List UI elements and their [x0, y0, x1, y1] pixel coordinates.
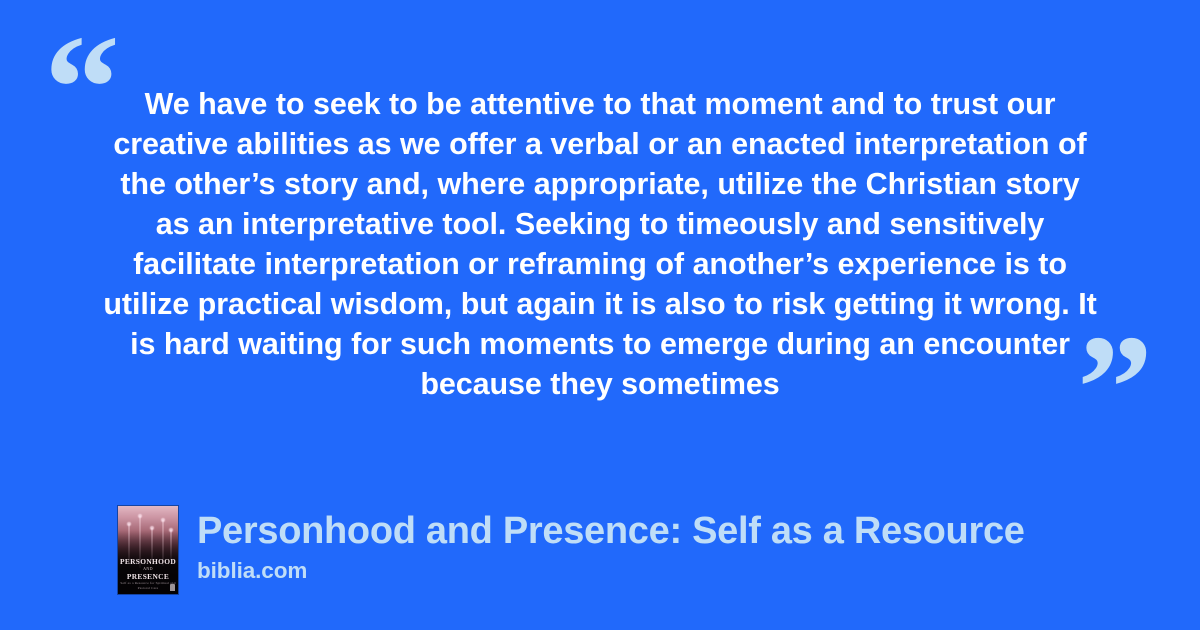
cover-title-line-2: PRESENCE [118, 572, 178, 581]
cover-highlight [161, 518, 165, 522]
book-cover-thumbnail[interactable]: PERSONHOOD AND PRESENCE Self as a Resour… [118, 506, 178, 594]
footer-text: Personhood and Presence: Self as a Resou… [197, 506, 1025, 585]
cover-highlight [138, 514, 142, 518]
footer: PERSONHOOD AND PRESENCE Self as a Resour… [118, 506, 1025, 594]
book-title[interactable]: Personhood and Presence: Self as a Resou… [197, 508, 1025, 554]
cover-highlight [127, 522, 131, 526]
cover-title-block: PERSONHOOD AND PRESENCE [118, 557, 178, 581]
quote-region: “ We have to seek to be attentive to tha… [0, 0, 1200, 440]
site-name[interactable]: biblia.com [197, 557, 1025, 585]
quote-card: “ We have to seek to be attentive to tha… [0, 0, 1200, 630]
cover-highlight [169, 528, 173, 532]
cover-subtitle: Self as a Resource for Spiritual and Pas… [118, 581, 178, 590]
cover-title-line-1: PERSONHOOD [118, 557, 178, 566]
cover-streak [170, 530, 172, 560]
quote-text: We have to seek to be attentive to that … [100, 84, 1100, 404]
closing-quote-icon: ” [1077, 312, 1153, 464]
cover-highlight [150, 526, 154, 530]
publisher-logo-icon [170, 584, 175, 591]
